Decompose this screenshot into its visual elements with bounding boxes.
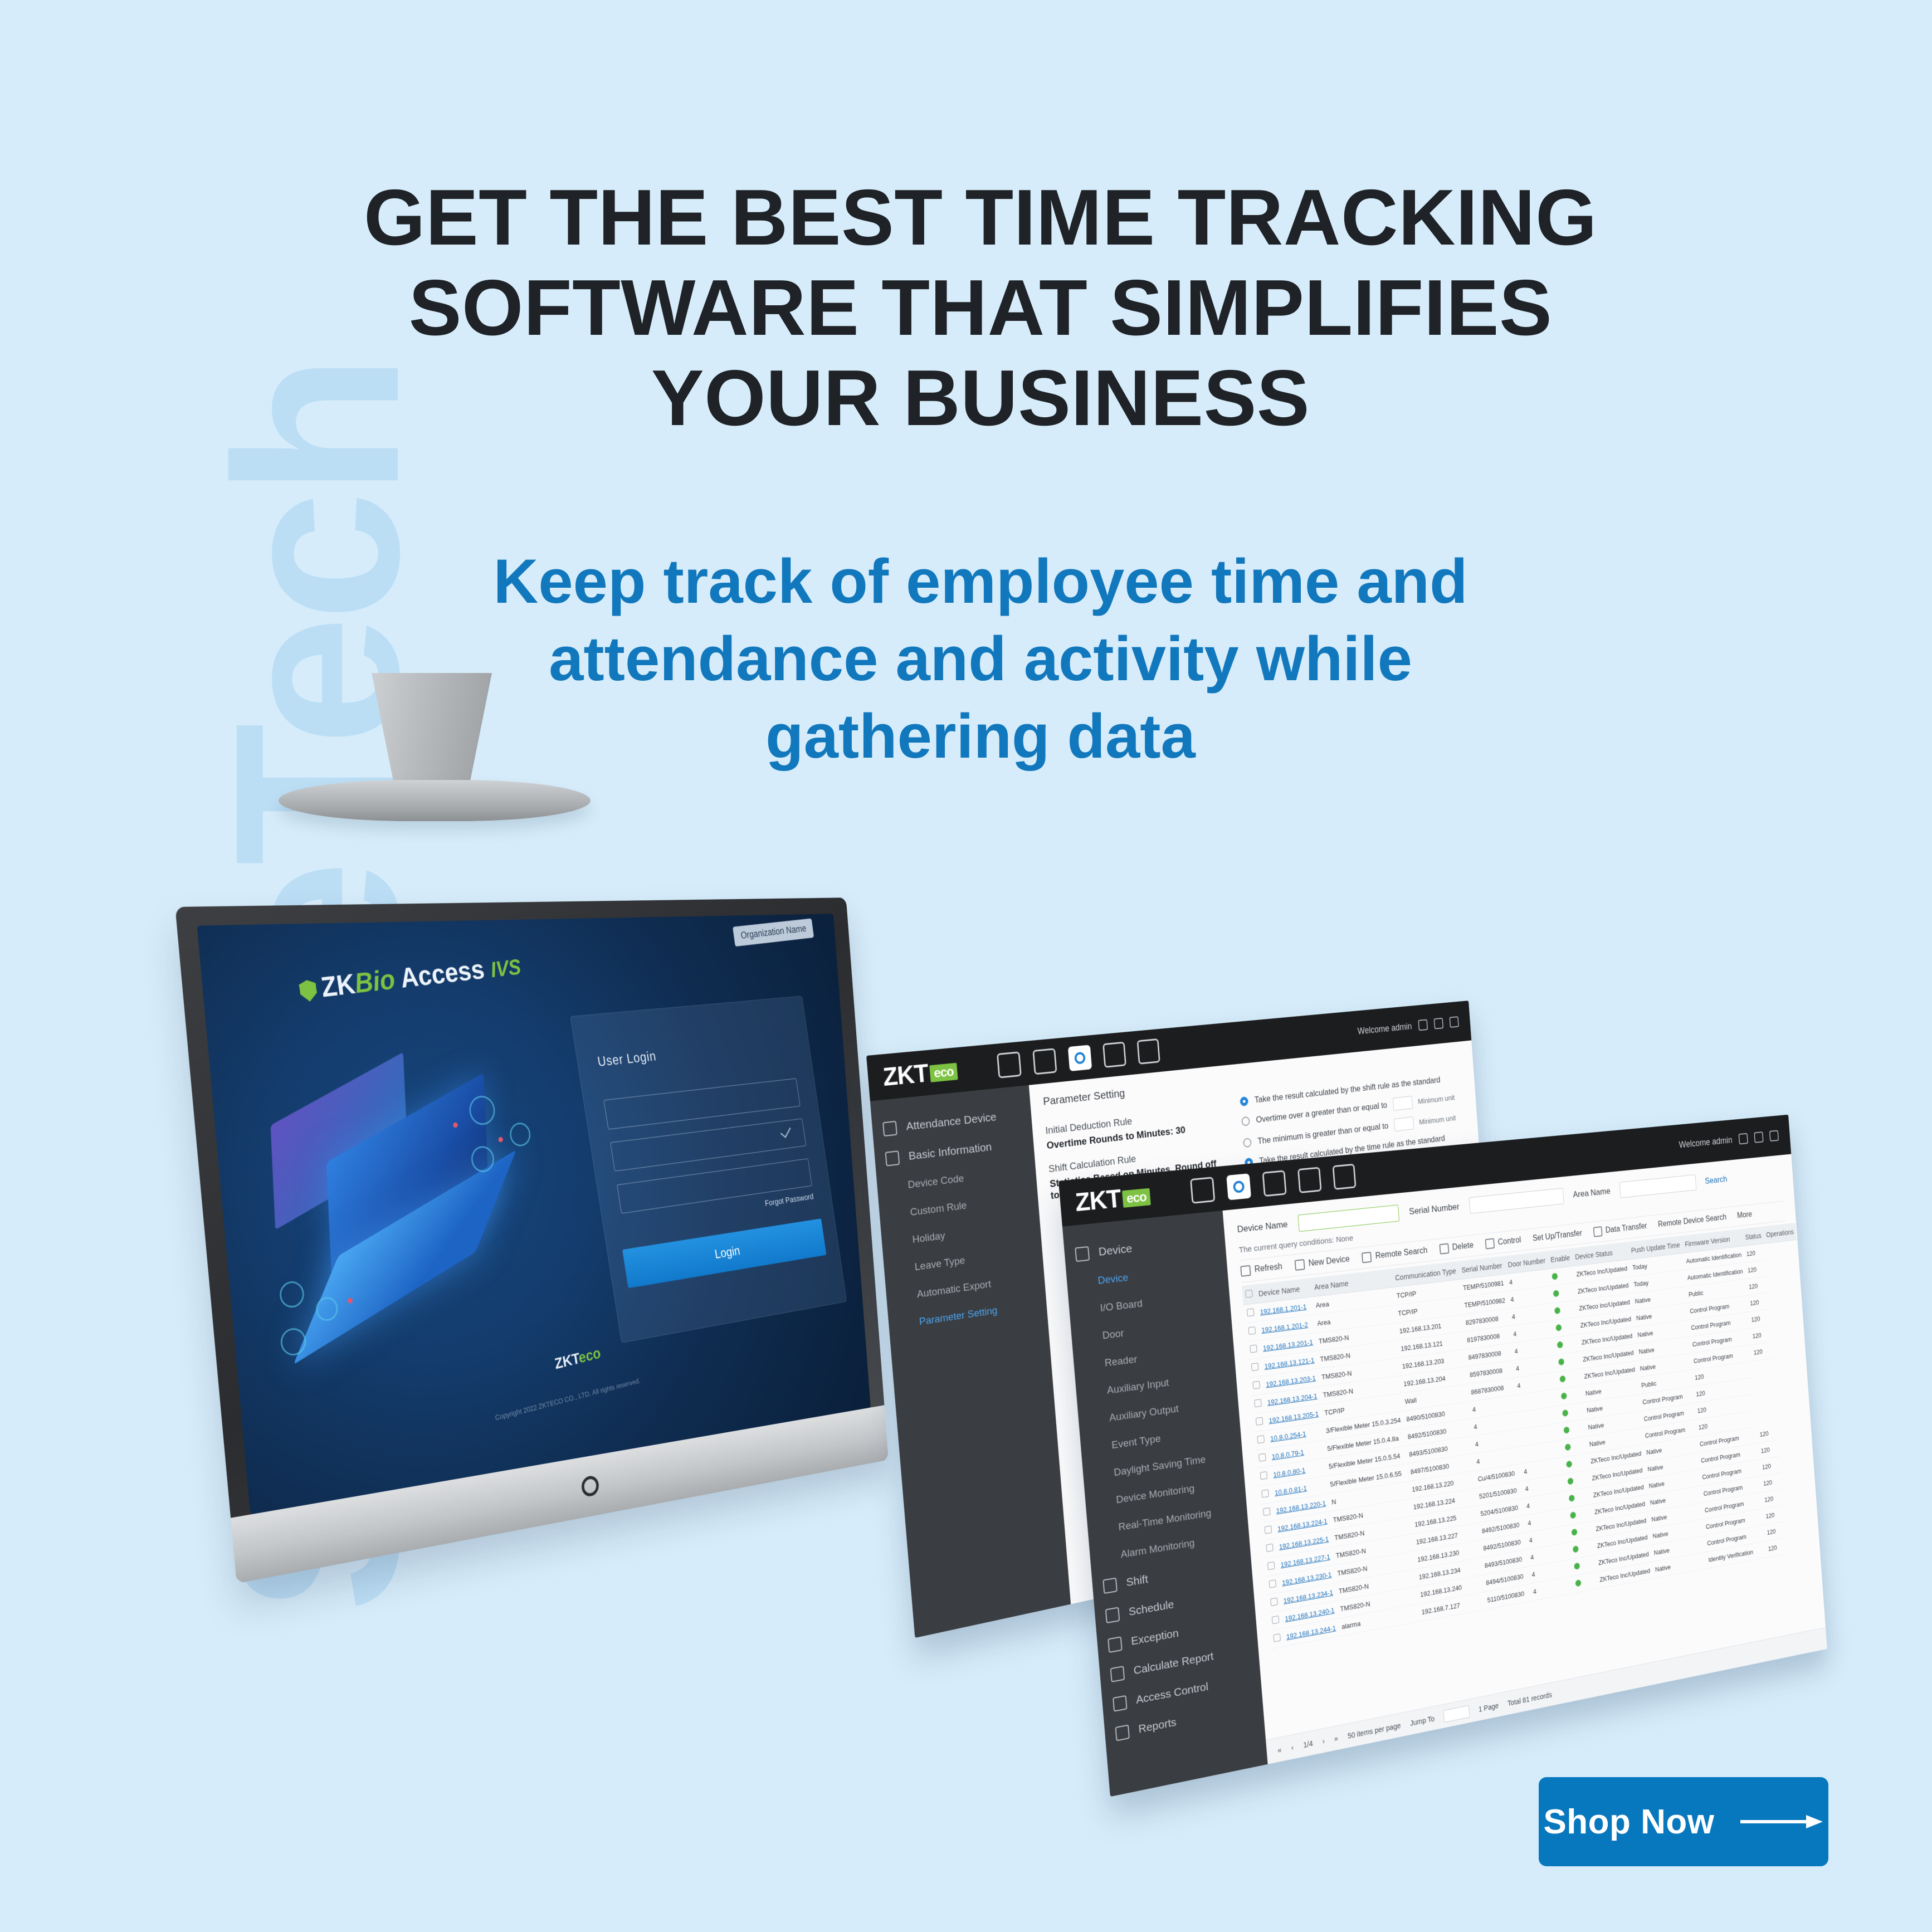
login-title: User Login xyxy=(597,1048,657,1070)
row-checkbox[interactable] xyxy=(1246,1340,1261,1359)
sidebar-item-label: Reader xyxy=(1104,1354,1138,1370)
shop-now-label: Shop Now xyxy=(1543,1802,1714,1842)
pager-next[interactable]: › xyxy=(1322,1736,1325,1745)
subhead-line-2: attendance and activity while xyxy=(357,621,1604,698)
status-dot-icon xyxy=(1567,1477,1573,1485)
checkbox-icon[interactable] xyxy=(1248,1326,1256,1335)
plus-icon xyxy=(1295,1259,1305,1271)
checkbox-icon[interactable] xyxy=(1257,1435,1265,1443)
shield-icon[interactable] xyxy=(1136,1038,1160,1065)
checkbox-icon[interactable] xyxy=(1251,1363,1259,1371)
forgot-password-link[interactable]: Forgot Password xyxy=(764,1192,814,1209)
row-checkbox[interactable] xyxy=(1267,1593,1281,1613)
status-dot-icon xyxy=(1563,1426,1569,1433)
sidebar-item-label: Schedule xyxy=(1128,1598,1174,1619)
top-right-area: Welcome admin xyxy=(1679,1130,1779,1150)
row-checkbox[interactable] xyxy=(1269,1611,1283,1631)
table-column-header: Operations xyxy=(1763,1223,1797,1243)
pager-jump-label: Jump To xyxy=(1409,1714,1435,1728)
status-dot-icon xyxy=(1572,1528,1578,1535)
headline-line-1: GET THE BEST TIME TRACKING xyxy=(357,173,1604,263)
serial-number-label: Serial Number xyxy=(1409,1202,1460,1217)
logout-icon[interactable] xyxy=(1769,1130,1779,1142)
radio-icon[interactable] xyxy=(1243,1138,1252,1148)
toolbar-label: Remote Device Search xyxy=(1658,1213,1727,1230)
accent-dot xyxy=(498,1136,503,1143)
toolbar-delete[interactable]: Delete xyxy=(1439,1241,1474,1255)
sidebar-item-label: Exception xyxy=(1131,1627,1179,1648)
device-icon xyxy=(882,1121,897,1136)
sidebar-item-label: Auxiliary Output xyxy=(1109,1403,1179,1424)
sidebar-item-label: Shift xyxy=(1126,1573,1149,1589)
exception-icon xyxy=(1108,1636,1123,1653)
users-icon[interactable] xyxy=(1102,1042,1126,1068)
row-checkbox[interactable] xyxy=(1270,1628,1285,1648)
toolbar-more[interactable]: More xyxy=(1737,1210,1753,1221)
info-icon xyxy=(885,1150,900,1166)
checkbox-icon[interactable] xyxy=(1247,1308,1255,1316)
trash-icon xyxy=(1439,1243,1449,1255)
network-node-icon xyxy=(508,1121,532,1148)
transfer-icon xyxy=(1593,1226,1603,1237)
sidebar-item-label: Custom Rule xyxy=(910,1200,967,1219)
pager-records: Total 81 records xyxy=(1507,1690,1553,1707)
sidebar-item-label: Device Code xyxy=(908,1173,964,1192)
users-icon[interactable] xyxy=(1190,1177,1215,1204)
pager-first[interactable]: « xyxy=(1277,1745,1282,1755)
area-name-input[interactable] xyxy=(1619,1174,1696,1198)
toolbar-label: More xyxy=(1737,1210,1753,1221)
zkteco-logo: ZKTeco xyxy=(1074,1180,1151,1217)
brand-zkt: ZKT xyxy=(882,1058,929,1091)
apple-circle-logo-icon xyxy=(581,1475,600,1497)
table-body: 192.168.1.201-1AreaTCP/IPTEMP/51009814ZK… xyxy=(1243,1240,1819,1648)
device-table: Device NameArea NameCommunication TypeSe… xyxy=(1242,1223,1819,1649)
toolbar-new-device[interactable]: New Device xyxy=(1295,1254,1350,1271)
page-title: GET THE BEST TIME TRACKING SOFTWARE THAT… xyxy=(357,173,1604,443)
checkbox-icon[interactable] xyxy=(1261,1489,1269,1497)
sidebar-item-label: Parameter Setting xyxy=(919,1305,998,1328)
hero-illustration xyxy=(231,1047,586,1384)
gear-icon[interactable] xyxy=(1739,1133,1749,1145)
top-nav-icons xyxy=(997,1038,1160,1079)
table-checkbox-header xyxy=(1242,1285,1256,1305)
device-icon xyxy=(1075,1246,1090,1262)
headline-line-3: YOUR BUSINESS xyxy=(357,353,1604,443)
checkbox-icon[interactable] xyxy=(1270,1598,1277,1606)
pager-jump-input[interactable] xyxy=(1443,1705,1470,1722)
status-dot-icon xyxy=(1573,1545,1579,1553)
status-dot-icon xyxy=(1552,1272,1558,1280)
status-dot-icon xyxy=(1559,1375,1565,1382)
shift-icon xyxy=(1102,1578,1118,1594)
radio-icon[interactable] xyxy=(1241,1116,1250,1126)
status-dot-icon xyxy=(1558,1358,1564,1365)
toolbar-remote-device-search[interactable]: Remote Device Search xyxy=(1658,1213,1727,1230)
checkbox-icon[interactable] xyxy=(1267,1562,1275,1570)
gear-icon[interactable] xyxy=(1418,1019,1428,1031)
organization-selector[interactable]: Organization Name xyxy=(733,918,814,947)
schedule-icon xyxy=(1105,1607,1120,1623)
area-name-label: Area Name xyxy=(1573,1186,1611,1200)
row-checkbox[interactable] xyxy=(1250,1376,1264,1396)
device-name-label: Device Name xyxy=(1237,1219,1288,1235)
shield-icon[interactable] xyxy=(1332,1164,1356,1190)
option-value-input[interactable] xyxy=(1394,1116,1414,1131)
toolbar-label: Data Transfer xyxy=(1605,1222,1647,1235)
row-checkbox[interactable] xyxy=(1260,1502,1274,1523)
report-icon xyxy=(1110,1666,1125,1682)
logo-zk: ZK xyxy=(319,968,357,1003)
serial-number-input[interactable] xyxy=(1468,1188,1564,1214)
help-icon[interactable] xyxy=(1434,1018,1444,1030)
poster-canvas: SecureTech GET THE BEST TIME TRACKING SO… xyxy=(0,0,1932,1932)
sidebar-item-label: Basic Information xyxy=(908,1140,992,1163)
zkteco-logo: ZKTeco xyxy=(882,1055,958,1092)
checkbox-icon[interactable] xyxy=(1254,1399,1262,1407)
status-dot-icon xyxy=(1574,1562,1580,1569)
status-dot-icon xyxy=(1553,1290,1559,1297)
brand-zkt: ZKT xyxy=(1074,1184,1122,1217)
sidebar-item-label: Auxiliary Input xyxy=(1106,1377,1169,1397)
option-value-input[interactable] xyxy=(1393,1096,1413,1111)
check-icon xyxy=(780,1124,791,1138)
row-checkbox[interactable] xyxy=(1257,1466,1271,1486)
top-nav-icons xyxy=(1190,1164,1357,1204)
logo-ivs: IVS xyxy=(489,954,522,982)
checkbox-icon[interactable] xyxy=(1245,1290,1253,1298)
person-icon[interactable] xyxy=(997,1051,1022,1078)
toolbar-label: Delete xyxy=(1452,1241,1474,1253)
arrow-right-icon xyxy=(1740,1811,1824,1833)
sidebar-item-label: Automatic Export xyxy=(916,1279,992,1301)
sidebar-item-label: Door xyxy=(1102,1328,1124,1342)
status-dot-icon xyxy=(1569,1494,1575,1501)
row-checkbox[interactable] xyxy=(1261,1520,1276,1540)
row-checkbox[interactable] xyxy=(1262,1539,1277,1559)
search-icon xyxy=(1362,1252,1372,1263)
network-node-icon xyxy=(277,1279,306,1310)
checkbox-icon[interactable] xyxy=(1250,1345,1257,1353)
side-note: Minimum unit xyxy=(1419,1114,1456,1126)
help-icon[interactable] xyxy=(1754,1131,1763,1143)
row-checkbox[interactable] xyxy=(1248,1358,1262,1378)
zkteco-device-window: ZKTeco Welcome admin Device xyxy=(1058,1115,1827,1797)
search-button[interactable]: Search xyxy=(1705,1174,1728,1187)
table-column-header: Enable xyxy=(1547,1248,1573,1269)
logo-access: Access xyxy=(392,954,486,995)
clock-icon[interactable] xyxy=(1068,1045,1092,1071)
copyright-text: Copyright 2022 ZKTECO CO., LTD. All righ… xyxy=(495,1377,641,1422)
shop-now-button[interactable]: Shop Now xyxy=(1539,1777,1828,1866)
toolbar-data-transfer[interactable]: Data Transfer xyxy=(1593,1221,1648,1237)
row-checkbox[interactable] xyxy=(1264,1557,1279,1577)
top-right-area: Welcome admin xyxy=(1357,1016,1459,1037)
radio-icon[interactable] xyxy=(1240,1096,1248,1106)
monitor-base xyxy=(279,780,591,821)
row-checkbox[interactable] xyxy=(1252,1412,1267,1432)
sidebar-item-label: Device xyxy=(1097,1272,1129,1287)
checkbox-icon[interactable] xyxy=(1272,1616,1279,1624)
pager-last[interactable]: » xyxy=(1334,1734,1338,1743)
status-dot-icon xyxy=(1561,1392,1567,1399)
checkbox-icon[interactable] xyxy=(1265,1525,1272,1534)
row-checkbox[interactable] xyxy=(1245,1321,1260,1341)
sidebar-item-label: Device Monitoring xyxy=(1116,1483,1195,1507)
subhead-line-3: gathering data xyxy=(357,698,1604,775)
table-cell: 120 xyxy=(1743,1243,1765,1262)
status-dot-icon xyxy=(1565,1443,1571,1451)
pager-page: 1/4 xyxy=(1303,1739,1313,1749)
sidebar-item-label: Reports xyxy=(1138,1716,1177,1736)
table-column-header: Status xyxy=(1742,1226,1764,1246)
table-cell: 120 xyxy=(1765,1538,1787,1558)
headline-line-2: SOFTWARE THAT SIMPLIFIES xyxy=(357,263,1604,353)
status-dot-icon xyxy=(1554,1307,1560,1314)
device-list-panel: Device Name Serial Number Area Name Sear… xyxy=(1223,1154,1827,1764)
zkteco-footer-logo: ZKTeco xyxy=(554,1345,602,1373)
sidebar-item-label: Attendance Device xyxy=(906,1111,997,1134)
sidebar-item-label: Holiday xyxy=(912,1230,946,1246)
access-icon xyxy=(1113,1695,1127,1712)
zkbio-access-logo: ZKBio Access IVS xyxy=(297,950,523,1007)
checkbox-icon[interactable] xyxy=(1256,1417,1263,1426)
login-card: User Login Forgot Password Login xyxy=(570,996,847,1343)
row-checkbox[interactable] xyxy=(1266,1574,1280,1594)
subhead-line-1: Keep track of employee time and xyxy=(357,543,1604,621)
checkbox-icon[interactable] xyxy=(1260,1471,1267,1480)
welcome-label: Welcome admin xyxy=(1679,1135,1733,1150)
sidebar-item-label: Leave Type xyxy=(914,1255,965,1274)
table-cell: 120 xyxy=(1751,1342,1773,1362)
device-icon[interactable] xyxy=(1226,1173,1251,1200)
toolbar-label: Control xyxy=(1497,1236,1521,1247)
checkbox-icon[interactable] xyxy=(1266,1544,1273,1552)
pager-per-page[interactable]: 50 items per page xyxy=(1347,1721,1401,1740)
refresh-icon xyxy=(1240,1265,1251,1277)
login-button[interactable]: Login xyxy=(622,1219,827,1289)
toolbar-control[interactable]: Control xyxy=(1485,1235,1521,1249)
table-cell xyxy=(1572,1572,1598,1593)
table-cell: 120 xyxy=(1745,1260,1767,1279)
status-dot-icon xyxy=(1566,1460,1572,1467)
clock-icon[interactable] xyxy=(1262,1170,1286,1197)
toolbar-label: Set Up/Transfer xyxy=(1533,1229,1583,1243)
sidebar-item-label: I/O Board xyxy=(1100,1298,1143,1315)
toolbar-label: Remote Search xyxy=(1375,1246,1428,1261)
logout-icon[interactable] xyxy=(1449,1016,1458,1028)
checkbox-icon[interactable] xyxy=(1258,1453,1266,1462)
row-checkbox[interactable] xyxy=(1258,1485,1272,1505)
brand-eco: eco xyxy=(930,1063,958,1082)
toolbar-refresh[interactable]: Refresh xyxy=(1240,1261,1282,1276)
status-dot-icon xyxy=(1570,1511,1576,1519)
footer-logo-zkt: ZKT xyxy=(554,1350,580,1372)
status-dot-icon xyxy=(1557,1341,1563,1348)
device-name-input[interactable] xyxy=(1297,1204,1399,1232)
shield-icon xyxy=(298,979,318,1002)
device-icon[interactable] xyxy=(1032,1048,1057,1075)
row-checkbox[interactable] xyxy=(1255,1448,1270,1468)
checkbox-icon[interactable] xyxy=(1269,1579,1276,1588)
side-note: Minimum unit xyxy=(1418,1093,1455,1105)
toolbar-remote-search[interactable]: Remote Search xyxy=(1362,1246,1428,1263)
pager-total: 1 Page xyxy=(1478,1701,1499,1713)
reports-icon xyxy=(1115,1724,1130,1741)
sidebar-item-label: Event Type xyxy=(1111,1433,1161,1452)
checkbox-icon[interactable] xyxy=(1273,1633,1280,1642)
logo-bio: Bio xyxy=(353,964,397,999)
control-icon xyxy=(1485,1238,1495,1249)
toolbar-setup-transfer[interactable]: Set Up/Transfer xyxy=(1533,1229,1583,1243)
checkbox-icon[interactable] xyxy=(1263,1507,1270,1516)
welcome-label: Welcome admin xyxy=(1357,1021,1412,1037)
sidebar-item-label: Device xyxy=(1098,1242,1133,1259)
page-subtitle: Keep track of employee time and attendan… xyxy=(357,543,1604,775)
pager-prev[interactable]: ‹ xyxy=(1291,1743,1294,1752)
row-checkbox[interactable] xyxy=(1251,1394,1265,1414)
sidebar-item-label: Alarm Monitoring xyxy=(1120,1538,1195,1562)
checkbox-icon[interactable] xyxy=(1253,1381,1261,1389)
person-icon[interactable] xyxy=(1297,1167,1322,1194)
status-dot-icon xyxy=(1562,1409,1568,1416)
toolbar-label: Refresh xyxy=(1254,1262,1282,1275)
monitor-body: Organization Name ZKBio Access IVS xyxy=(175,897,888,1583)
row-checkbox[interactable] xyxy=(1253,1430,1268,1450)
status-dot-icon xyxy=(1575,1579,1582,1587)
row-checkbox[interactable] xyxy=(1243,1304,1258,1323)
toolbar-label: New Device xyxy=(1308,1255,1350,1269)
brand-eco: eco xyxy=(1122,1188,1150,1208)
footer-logo-eco: eco xyxy=(578,1345,602,1367)
status-dot-icon xyxy=(1555,1324,1562,1331)
